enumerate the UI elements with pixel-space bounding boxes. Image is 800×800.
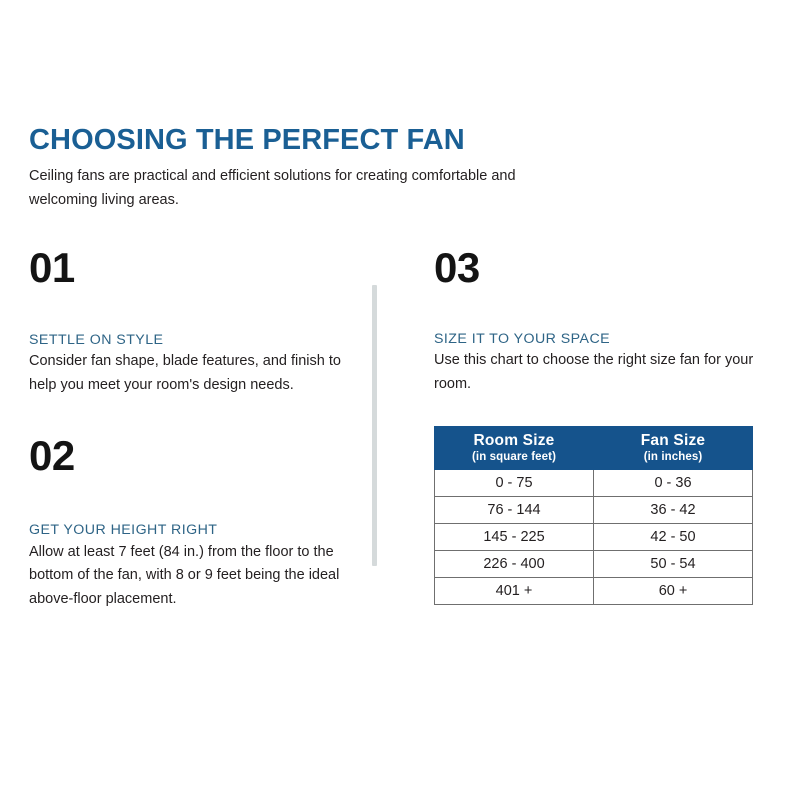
table-row: 76 - 144 36 - 42 bbox=[435, 497, 753, 524]
step-body-03: Use this chart to choose the right size … bbox=[434, 349, 764, 396]
table-header: Room Size (in square feet) Fan Size (in … bbox=[435, 427, 753, 470]
step-text-01: SETTLE ON STYLE Consider fan shape, blad… bbox=[29, 331, 349, 397]
right-column: 03 SIZE IT TO YOUR SPACE Use this chart … bbox=[434, 247, 764, 396]
step-heading-03: SIZE IT TO YOUR SPACE bbox=[434, 330, 764, 348]
cell-fan-size: 0 - 36 bbox=[594, 470, 753, 497]
column-header-fan-size: Fan Size (in inches) bbox=[594, 427, 753, 470]
table-row: 226 - 400 50 - 54 bbox=[435, 551, 753, 578]
step-body-02: Allow at least 7 feet (84 in.) from the … bbox=[29, 541, 349, 611]
step-number-01: 01 bbox=[29, 247, 349, 289]
cell-fan-size: 36 - 42 bbox=[594, 497, 753, 524]
table-header-row: Room Size (in square feet) Fan Size (in … bbox=[435, 427, 753, 470]
infographic-page: CHOOSING THE PERFECT FAN Ceiling fans ar… bbox=[0, 0, 800, 800]
step-block-01: 01 SETTLE ON STYLE Consider fan shape, b… bbox=[29, 247, 349, 397]
column-header-room-size-unit: (in square feet) bbox=[435, 451, 593, 465]
cell-room-size: 0 - 75 bbox=[435, 470, 594, 497]
table-row: 401 + 60 + bbox=[435, 578, 753, 605]
cell-room-size: 76 - 144 bbox=[435, 497, 594, 524]
table-row: 145 - 225 42 - 50 bbox=[435, 524, 753, 551]
step-body-01: Consider fan shape, blade features, and … bbox=[29, 350, 349, 397]
step-text-02: GET YOUR HEIGHT RIGHT Allow at least 7 f… bbox=[29, 521, 349, 611]
fan-size-table: Room Size (in square feet) Fan Size (in … bbox=[434, 426, 753, 605]
column-header-fan-size-unit: (in inches) bbox=[594, 451, 752, 465]
left-column: 01 SETTLE ON STYLE Consider fan shape, b… bbox=[29, 247, 349, 611]
table-body: 0 - 75 0 - 36 76 - 144 36 - 42 145 - 225… bbox=[435, 470, 753, 605]
cell-fan-size: 42 - 50 bbox=[594, 524, 753, 551]
step-block-02: 02 GET YOUR HEIGHT RIGHT Allow at least … bbox=[29, 435, 349, 611]
step-number-03: 03 bbox=[434, 247, 764, 289]
step-heading-02: GET YOUR HEIGHT RIGHT bbox=[29, 521, 349, 539]
column-header-fan-size-main: Fan Size bbox=[594, 432, 752, 450]
step-heading-01: SETTLE ON STYLE bbox=[29, 331, 349, 349]
cell-room-size: 401 + bbox=[435, 578, 594, 605]
column-header-room-size: Room Size (in square feet) bbox=[435, 427, 594, 470]
page-title: CHOOSING THE PERFECT FAN bbox=[29, 124, 629, 156]
cell-room-size: 226 - 400 bbox=[435, 551, 594, 578]
step-number-02: 02 bbox=[29, 435, 349, 477]
table-row: 0 - 75 0 - 36 bbox=[435, 470, 753, 497]
intro-paragraph: Ceiling fans are practical and efficient… bbox=[29, 165, 549, 212]
header: CHOOSING THE PERFECT FAN Ceiling fans ar… bbox=[29, 124, 629, 212]
cell-room-size: 145 - 225 bbox=[435, 524, 594, 551]
column-header-room-size-main: Room Size bbox=[435, 432, 593, 450]
column-divider bbox=[372, 285, 377, 566]
step-text-03: SIZE IT TO YOUR SPACE Use this chart to … bbox=[434, 330, 764, 396]
cell-fan-size: 60 + bbox=[594, 578, 753, 605]
cell-fan-size: 50 - 54 bbox=[594, 551, 753, 578]
step-block-03: 03 SIZE IT TO YOUR SPACE Use this chart … bbox=[434, 247, 764, 396]
